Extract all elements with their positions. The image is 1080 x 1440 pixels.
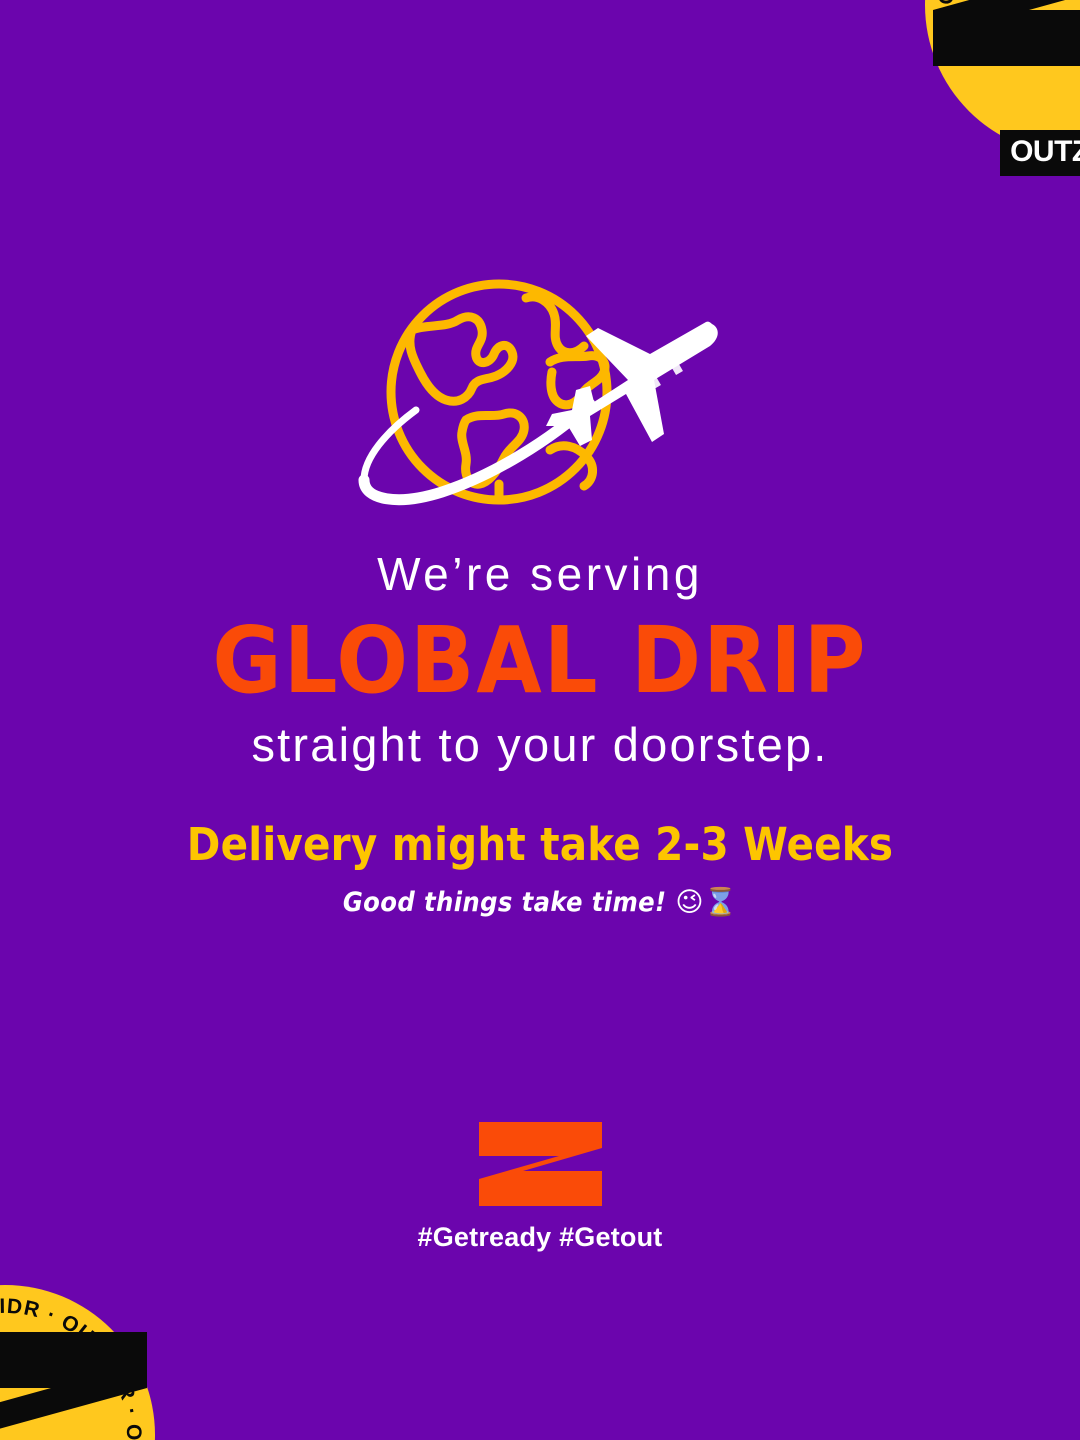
- poster-canvas: OUTZIDR · OUTZIDR · OUTZIDR · OUTZIDR · …: [0, 0, 1080, 1440]
- z-logo-icon: [479, 1122, 602, 1206]
- continent-east-top: [526, 297, 584, 353]
- brand-badge-top-right: OUTZIDR · OUTZIDR · OUTZIDR · OUTZIDR · …: [925, 0, 1080, 155]
- footer-brand-block: #Getready #Getout: [0, 1122, 1080, 1251]
- brand-badge-bottom-left: OUTZIDR · OUTZIDR · OUTZIDR · OUTZIDR · …: [0, 1285, 155, 1440]
- airplane-icon: [546, 322, 718, 446]
- badge-core-bottom-left: OUTZIDR: [0, 1264, 103, 1440]
- outzidr-z-logo-icon-top-right: [925, 0, 1080, 134]
- copy-headline-global-drip: GLOBAL DRIP: [0, 609, 1080, 712]
- delivery-notice: Delivery might take 2-3 Weeks: [0, 818, 1080, 872]
- footer-hashtags: #Getready #Getout: [418, 1224, 663, 1251]
- badge-wordmark-top-right: OUTZIDR: [1000, 130, 1080, 176]
- headline-copy-block: We’re serving GLOBAL DRIP straight to yo…: [0, 548, 1080, 772]
- badge-core-top-right: OUTZIDR: [977, 0, 1080, 176]
- outzidr-z-logo-icon-bottom-left: [0, 1264, 155, 1440]
- copy-line-serving: We’re serving: [0, 548, 1080, 601]
- delivery-subnote: Good things take time! 😉⌛: [0, 887, 1080, 919]
- delivery-subnote-text: Good things take time!: [343, 887, 667, 918]
- copy-line-doorstep: straight to your doorstep.: [0, 718, 1080, 772]
- wink-hourglass-emoji: 😉⌛: [675, 887, 737, 918]
- globe-with-airplane-icon: [354, 268, 726, 516]
- hero-illustration: [0, 268, 1080, 516]
- delivery-notice-block: Delivery might take 2-3 Weeks Good thing…: [0, 818, 1080, 919]
- continent-north: [410, 317, 513, 401]
